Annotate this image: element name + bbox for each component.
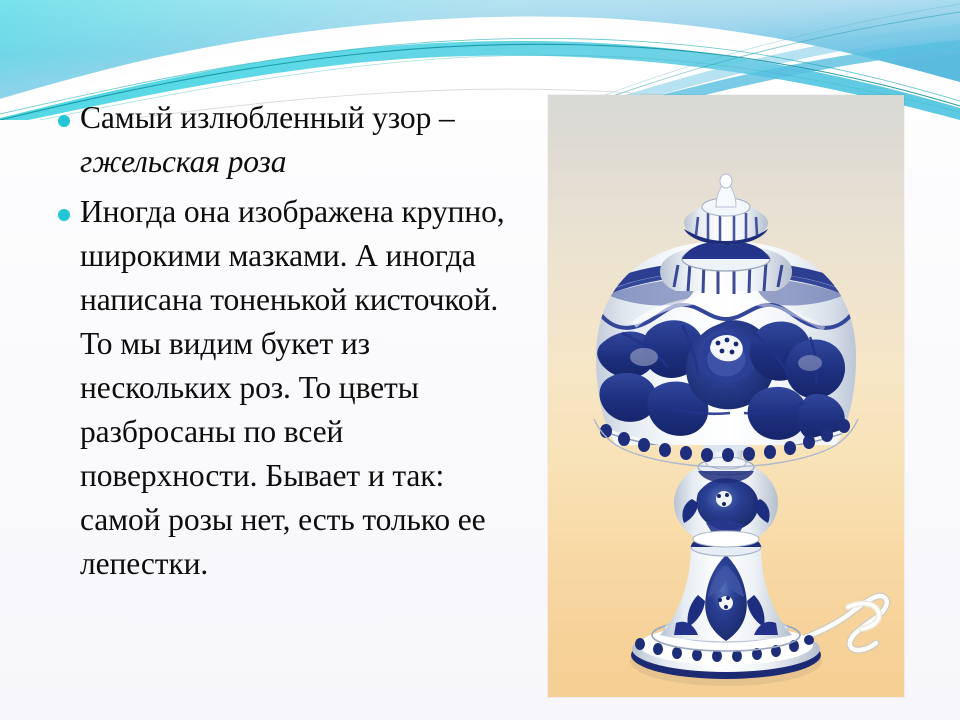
bullet-list: Самый излюбленный узор – гжельская роза … xyxy=(40,96,510,586)
bullet-text-1: Самый излюбленный узор – гжельская роза xyxy=(80,100,455,179)
bullet-dot-icon xyxy=(58,209,70,221)
gzhel-lamp-image[interactable] xyxy=(548,95,904,697)
bullet-run-normal: Самый излюбленный узор – xyxy=(80,100,455,135)
list-item[interactable]: Самый излюбленный узор – гжельская роза xyxy=(40,96,510,184)
lamp-knop xyxy=(674,459,778,547)
content-placeholder: Самый излюбленный узор – гжельская роза … xyxy=(0,96,530,706)
lamp-finial xyxy=(684,174,768,245)
bullet-dot-icon xyxy=(58,115,70,127)
header-sky-shape xyxy=(0,0,960,99)
slide: Самый излюбленный узор – гжельская роза … xyxy=(0,0,960,720)
bullet-run-italic: гжельская роза xyxy=(80,144,286,179)
lamp-column xyxy=(660,535,792,641)
bullet-text-2: Иногда она изображена крупно, широкими м… xyxy=(80,194,505,581)
list-item[interactable]: Иногда она изображена крупно, широкими м… xyxy=(40,190,510,586)
